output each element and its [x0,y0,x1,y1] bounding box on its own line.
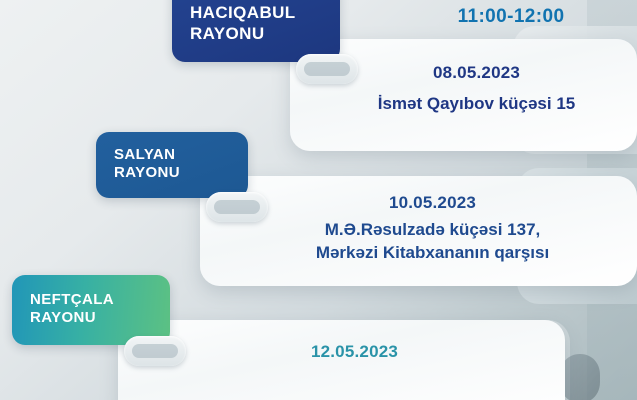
event-address-line-1: M.Ə.Rəsulzadə küçəsi 137, [252,219,613,240]
region-name-line-2: RAYONU [114,164,234,182]
region-tab-salyan: SALYAN RAYONU [96,132,248,198]
event-date: 08.05.2023 [342,63,611,83]
card-connector-notch-neftcala [124,336,186,366]
region-name-line-1: NEFTÇALA [30,291,156,309]
region-tab-haciqabul: HACIQABUL RAYONU [172,0,340,62]
poster-canvas: 11:00-12:00 08.05.2023 İsmət Qayıbov küç… [0,0,637,400]
time-range-label: 11:00-12:00 [396,6,626,28]
event-card-neftcala: 12.05.2023 [118,320,565,400]
event-date: 12.05.2023 [168,342,541,362]
card-connector-notch-salyan [206,192,268,222]
event-address-line-2: Mərkəzi Kitabxananın qarşısı [252,242,613,263]
region-name-line-1: HACIQABUL [190,3,326,24]
event-card-salyan: 10.05.2023 M.Ə.Rəsulzadə küçəsi 137, Mər… [200,176,637,286]
event-address-line-1: İsmət Qayıbov küçəsi 15 [342,93,611,114]
region-name-line-1: SALYAN [114,146,234,164]
card-connector-notch-haciqabul [296,54,358,84]
event-date: 10.05.2023 [252,193,613,213]
region-name-line-2: RAYONU [190,24,326,45]
region-name-line-2: RAYONU [30,309,156,327]
region-tab-neftcala: NEFTÇALA RAYONU [12,275,170,345]
